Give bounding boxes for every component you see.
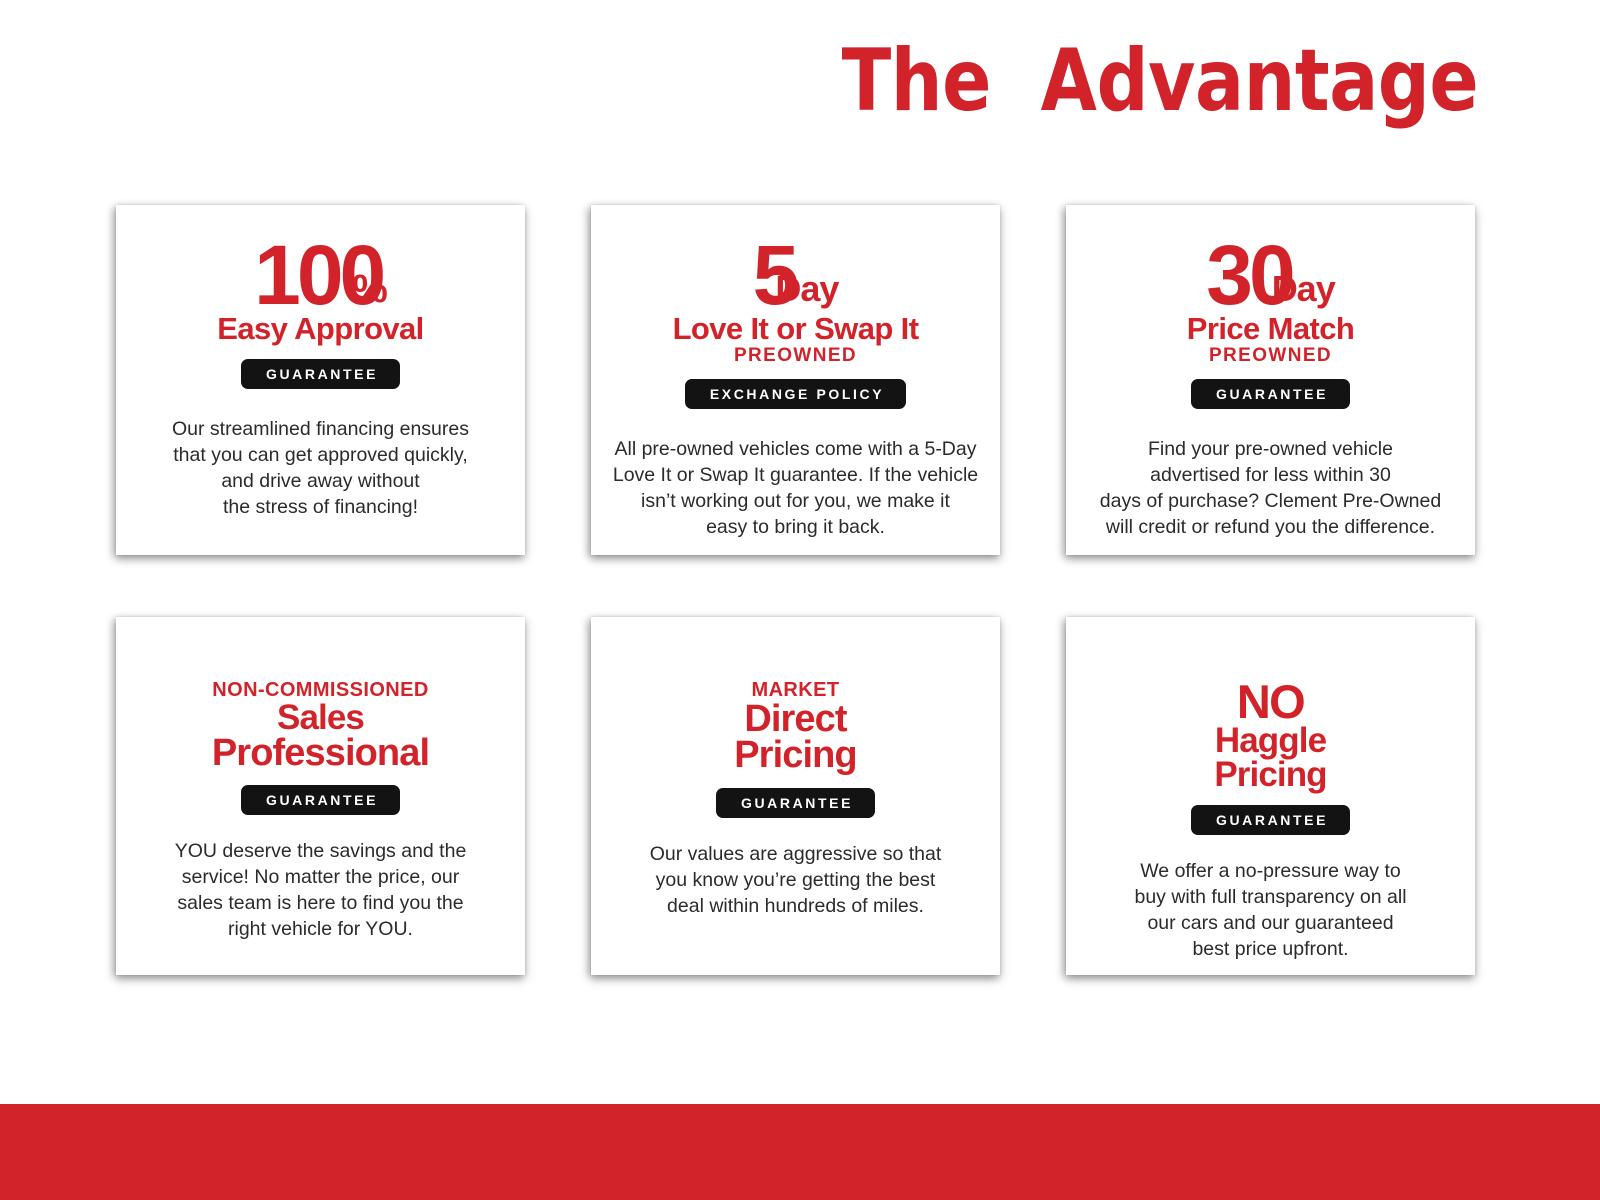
stack-line-2: Professional xyxy=(134,735,507,771)
hero-suffix-day: Day xyxy=(775,271,838,307)
card-headline: NO Haggle Pricing xyxy=(1084,679,1457,791)
card-body-text: We offer a no-pressure way to buy with f… xyxy=(1134,859,1406,963)
card-badge-guarantee: GUARANTEE xyxy=(241,359,400,389)
advantage-card-grid: 100 % Easy Approval GUARANTEE Our stream… xyxy=(116,205,1484,975)
card-badge-exchange-policy: EXCHANGE POLICY xyxy=(685,379,906,409)
hero-subtitle: Love It or Swap It xyxy=(609,313,982,345)
advantage-card-love-it-or-swap-it[interactable]: 5 Day Love It or Swap It PREOWNED EXCHAN… xyxy=(591,205,1000,555)
stack-line-2: Pricing xyxy=(609,737,982,773)
card-body-text: All pre-owned vehicles come with a 5-Day… xyxy=(613,437,978,541)
hero-suffix-percent: % xyxy=(352,269,387,309)
advantage-page: The Advantage 100 % Easy Approval GUARAN… xyxy=(0,0,1600,1200)
hero-number-row: 5 Day xyxy=(609,239,982,311)
stack-line-2: Pricing xyxy=(1084,758,1457,792)
card-body-text: YOU deserve the savings and the service!… xyxy=(175,839,467,943)
advantage-card-price-match[interactable]: 30 Day Price Match PREOWNED GUARANTEE Fi… xyxy=(1066,205,1475,555)
hero-number-row: 100 % xyxy=(134,239,507,311)
card-headline: MARKET Direct Pricing xyxy=(609,679,982,774)
advantage-card-easy-approval[interactable]: 100 % Easy Approval GUARANTEE Our stream… xyxy=(116,205,525,555)
card-body-text: Our streamlined financing ensures that y… xyxy=(172,417,469,521)
card-badge-guarantee: GUARANTEE xyxy=(241,785,400,815)
card-badge-guarantee: GUARANTEE xyxy=(716,788,875,818)
card-headline: 100 % Easy Approval xyxy=(134,239,507,345)
page-header: The Advantage xyxy=(0,26,1600,136)
hero-kicker-preowned: PREOWNED xyxy=(1084,346,1457,365)
hero-number-row: 30 Day xyxy=(1084,239,1457,311)
card-headline: 5 Day Love It or Swap It PREOWNED xyxy=(609,239,982,365)
hero-suffix-day: Day xyxy=(1272,271,1335,307)
card-headline: NON-COMMISSIONED Sales Professional xyxy=(134,679,507,771)
advantage-card-sales-professional[interactable]: NON-COMMISSIONED Sales Professional GUAR… xyxy=(116,617,525,975)
card-body-text: Find your pre-owned vehicle advertised f… xyxy=(1100,437,1441,541)
hero-subtitle: Price Match xyxy=(1084,313,1457,345)
stack-kicker: NO xyxy=(1084,679,1457,724)
stack-line-1: Direct xyxy=(609,701,982,737)
page-title: The Advantage xyxy=(841,38,1478,124)
hero-subtitle: Easy Approval xyxy=(134,313,507,345)
card-badge-guarantee: GUARANTEE xyxy=(1191,379,1350,409)
footer-accent-bar xyxy=(0,1104,1600,1200)
hero-kicker-preowned: PREOWNED xyxy=(609,346,982,365)
advantage-card-no-haggle-pricing[interactable]: NO Haggle Pricing GUARANTEE We offer a n… xyxy=(1066,617,1475,975)
card-body-text: Our values are aggressive so that you kn… xyxy=(650,842,942,920)
card-headline: 30 Day Price Match PREOWNED xyxy=(1084,239,1457,365)
stack-line-1: Haggle xyxy=(1084,724,1457,758)
advantage-card-direct-pricing[interactable]: MARKET Direct Pricing GUARANTEE Our valu… xyxy=(591,617,1000,975)
card-badge-guarantee: GUARANTEE xyxy=(1191,805,1350,835)
stack-line-1: Sales xyxy=(134,701,507,735)
